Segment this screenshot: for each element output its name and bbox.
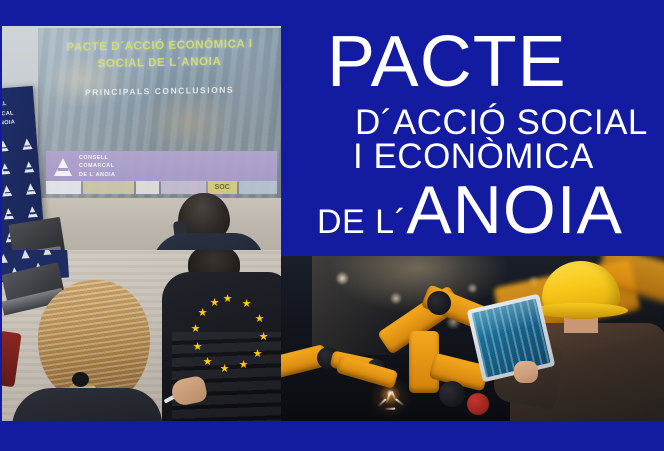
factory-worker	[502, 257, 664, 422]
anoia-a-icon	[19, 138, 39, 152]
title-line-daccio: D´ACCIÓ SOCIAL	[355, 105, 648, 140]
blue-band-bottom	[0, 421, 664, 451]
photo-industrial-robots	[281, 255, 664, 422]
blue-band-top	[0, 0, 281, 26]
projection-screen: PACTE D´ACCIÓ ECONÒMICA I SOCIAL DE L´AN…	[38, 28, 281, 198]
robot-joint	[439, 381, 465, 407]
sponsor-logo-1	[46, 181, 81, 194]
eu-star-icon: ★	[202, 357, 213, 368]
title-line-pacte: PACTE	[327, 26, 567, 98]
slide-organization-band: CONSELLCOMARCALDE L´ANOIA	[46, 151, 277, 182]
eu-star-icon: ★	[190, 324, 201, 335]
anoia-a-icon	[0, 162, 18, 176]
title-anoia: ANOIA	[406, 172, 623, 248]
sponsor-logo-2	[83, 181, 134, 194]
rollup-banner-text: CONSELLCOMARCALDE L´ANOIA	[0, 86, 36, 131]
eu-star-icon: ★	[252, 349, 263, 360]
woman-coat	[12, 388, 162, 422]
anoia-a-icon	[21, 160, 41, 174]
tablet-screen	[471, 298, 550, 377]
robot-end-effector	[467, 393, 489, 415]
eu-star-icon: ★	[209, 298, 220, 309]
anoia-a-icon	[0, 139, 16, 153]
title-de-l: DE L´	[317, 203, 406, 241]
worker-hand	[514, 361, 538, 383]
eu-star-icon: ★	[192, 342, 203, 353]
eu-star-icon: ★	[241, 299, 252, 310]
anoia-a-icon	[25, 205, 45, 219]
spark	[395, 399, 405, 407]
eu-star-icon: ★	[254, 314, 265, 325]
slide-band-org-text: CONSELLCOMARCALDE L´ANOIA	[79, 154, 115, 180]
title-line-anoia: DE L´ANOIA	[317, 176, 623, 244]
robot-joint	[427, 291, 451, 315]
slide-title: PACTE D´ACCIÓ ECONÒMICA I SOCIAL DE L´AN…	[42, 36, 277, 74]
blonde-woman-back-view	[30, 280, 165, 422]
photo-audience: ★ ★ ★ ★ ★ ★ ★ ★ ★ ★ ★ ★	[0, 250, 281, 422]
eu-star-icon: ★	[219, 364, 230, 375]
eu-flag-stars-icon: ★ ★ ★ ★ ★ ★ ★ ★ ★ ★ ★ ★	[190, 296, 266, 372]
consell-comarcal-logo-icon	[53, 157, 73, 177]
eu-star-icon: ★	[222, 294, 233, 305]
welding-sparks	[363, 377, 417, 417]
anoia-a-icon	[2, 207, 22, 221]
anoia-a-icon	[0, 185, 20, 199]
anoia-a-icon	[43, 250, 52, 255]
spark	[384, 408, 395, 410]
woman-hair	[38, 280, 150, 400]
eu-star-icon: ★	[258, 332, 269, 343]
photo-conference: PACTE D´ACCIÓ ECONÒMICA I SOCIAL DE L´AN…	[0, 25, 281, 275]
eu-star-icon: ★	[238, 360, 249, 371]
hard-hat-brim	[532, 303, 628, 318]
anoia-a-icon	[23, 183, 43, 197]
anoia-a-icon	[21, 250, 30, 259]
hair-tie	[72, 372, 89, 387]
eu-star-icon: ★	[197, 308, 208, 319]
poster-title-block: PACTE D´ACCIÓ SOCIAL I ECONÒMICA DE L´AN…	[281, 0, 664, 256]
poster-root: PACTE D´ACCIÓ ECONÒMICA I SOCIAL DE L´AN…	[0, 0, 664, 451]
title-line-economica: I ECONÒMICA	[353, 139, 594, 174]
blue-band-left	[0, 0, 2, 451]
